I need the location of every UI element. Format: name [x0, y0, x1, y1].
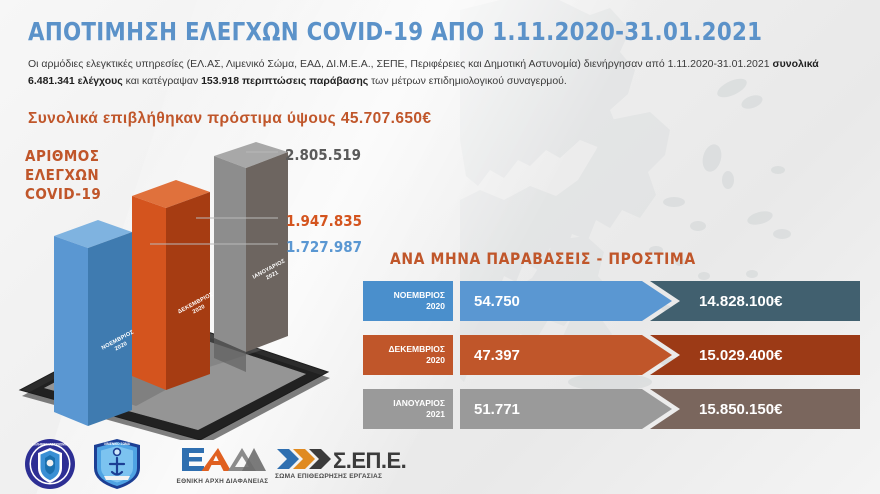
- value-label-november: 1.727.987: [286, 238, 362, 256]
- table-row: ΙΑΝΟΥΑΡΙΟΣ 2021 51.771 15.850.150€: [363, 389, 860, 429]
- total-fines-text: Συνολικά επιβλήθηκαν πρόστιμα ύψους 45.7…: [28, 110, 431, 128]
- row-violations-november: 54.750: [460, 281, 675, 321]
- row-year-label: 2020: [426, 355, 445, 366]
- paragraph-part-2: και κατέγραψαν: [123, 75, 201, 87]
- svg-text:ΛΙΜΕΝΙΚΟ ΣΩΜΑ: ΛΙΜΕΝΙΚΟ ΣΩΜΑ: [104, 442, 131, 446]
- row-year-label: 2020: [426, 301, 445, 312]
- sepe-logo: Σ.ΕΠ.Ε. ΣΩΜΑ ΕΠΙΘΕΩΡΗΣΗΣ ΕΡΓΑΣΙΑΣ: [275, 446, 406, 480]
- chart-svg: [10, 140, 390, 440]
- table-row: ΝΟΕΜΒΡΙΟΣ 2020 54.750 14.828.100€: [363, 281, 860, 321]
- paragraph-bold-violations: 153.918 περιπτώσεις παράβασης: [201, 75, 368, 87]
- sepe-subtitle: ΣΩΜΑ ΕΠΙΘΕΩΡΗΣΗΣ ΕΡΓΑΣΙΑΣ: [275, 473, 406, 480]
- row-month-november: ΝΟΕΜΒΡΙΟΣ 2020: [363, 281, 453, 321]
- row-violations-january: 51.771: [460, 389, 675, 429]
- bar-chart-3d: ΝΟΕΜΒΡΙΟΣ 2020 ΔΕΚΕΜΒΡΙΟΣ 2020 ΙΑΝΟΥΑΡΙΟ…: [10, 140, 390, 440]
- bar-november: [54, 220, 132, 426]
- sepe-chevrons-icon: [275, 446, 331, 472]
- paragraph-part-1: Οι αρμόδιες ελεγκτικές υπηρεσίες (ΕΛ.ΑΣ,…: [28, 58, 772, 70]
- paragraph-part-3: των μέτρων επιδημιολογικού συναγερμού.: [368, 75, 567, 87]
- svg-text:ΕΛΛΗΝΙΚΗ ΑΣΤΥΝΟΜΙΑ: ΕΛΛΗΝΙΚΗ ΑΣΤΥΝΟΜΙΑ: [32, 443, 69, 447]
- value-label-december: 1.947.835: [286, 212, 362, 230]
- row-month-label: ΔΕΚΕΜΒΡΙΟΣ: [388, 344, 445, 355]
- row-fines-december: 15.029.400€: [663, 335, 860, 375]
- sepe-wordmark: Σ.ΕΠ.Ε.: [333, 450, 406, 472]
- bar-january: [214, 142, 288, 372]
- intro-paragraph: Οι αρμόδιες ελεγκτικές υπηρεσίες (ΕΛ.ΑΣ,…: [28, 56, 868, 91]
- ead-logo: ΕΘΝΙΚΗ ΑΡΧΗ ΔΙΑΦΑΝΕΙΑΣ: [160, 446, 285, 485]
- ead-mark: [180, 446, 266, 472]
- footer-logos: ΕΛΛΗΝΙΚΗ ΑΣΤΥΝΟΜΙΑ ΛΙΜΕΝΙΚΟ ΣΩΜΑ: [0, 434, 880, 494]
- page-title: ΑΠΟΤΙΜΗΣΗ ΕΛΕΓΧΩΝ COVID-19 ΑΠΟ 1.11.2020…: [28, 17, 762, 46]
- ead-subtitle: ΕΘΝΙΚΗ ΑΡΧΗ ΔΙΑΦΑΝΕΙΑΣ: [160, 478, 285, 485]
- row-month-label: ΙΑΝΟΥΑΡΙΟΣ: [393, 398, 445, 409]
- bar-december: [132, 180, 210, 390]
- value-label-january: 2.805.519: [285, 146, 361, 164]
- row-fines-january: 15.850.150€: [663, 389, 860, 429]
- table-title: ΑΝΑ ΜΗΝΑ ΠΑΡΑΒΑΣΕΙΣ - ΠΡΟΣΤΙΜΑ: [390, 250, 696, 268]
- hellenic-coast-guard-emblem: ΛΙΜΕΝΙΚΟ ΣΩΜΑ: [92, 438, 142, 494]
- row-month-label: ΝΟΕΜΒΡΙΟΣ: [394, 290, 445, 301]
- infographic-page: ΑΠΟΤΙΜΗΣΗ ΕΛΕΓΧΩΝ COVID-19 ΑΠΟ 1.11.2020…: [0, 0, 880, 494]
- hellenic-police-emblem: ΕΛΛΗΝΙΚΗ ΑΣΤΥΝΟΜΙΑ: [24, 438, 76, 494]
- row-year-label: 2021: [426, 409, 445, 420]
- row-month-december: ΔΕΚΕΜΒΡΙΟΣ 2020: [363, 335, 453, 375]
- row-violations-december: 47.397: [460, 335, 675, 375]
- row-month-january: ΙΑΝΟΥΑΡΙΟΣ 2021: [363, 389, 453, 429]
- row-fines-november: 14.828.100€: [663, 281, 860, 321]
- table-row: ΔΕΚΕΜΒΡΙΟΣ 2020 47.397 15.029.400€: [363, 335, 860, 375]
